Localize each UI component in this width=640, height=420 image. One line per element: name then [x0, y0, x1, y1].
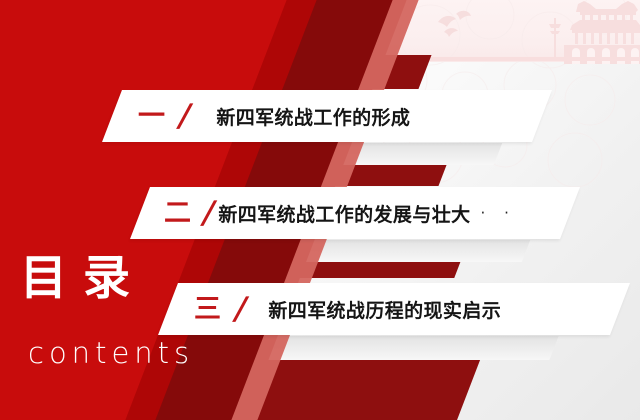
page-subtitle: contents	[28, 336, 228, 370]
agenda-numeral-2: 二	[164, 200, 191, 227]
agenda-numeral-1: 一	[138, 103, 165, 130]
agenda-item-2[interactable]: 二 / 新四军统战工作的发展与壮大 · ·	[130, 187, 580, 239]
agenda-item-1[interactable]: 一 / 新四军统战工作的形成	[102, 90, 552, 142]
agenda-label-2: 新四军统战工作的发展与壮大	[218, 200, 470, 227]
agenda-slide: 一 / 新四军统战工作的形成 二 / 新四军统战工作的发展与壮大 · · 三 /…	[0, 0, 640, 420]
slide-title-block: 目录 contents	[18, 255, 228, 370]
agenda-separator-1: /	[175, 101, 193, 132]
agenda-label-3: 新四军统战历程的现实启示	[268, 296, 501, 323]
agenda-separator-2: /	[199, 198, 217, 229]
agenda-item-3[interactable]: 三 / 新四军统战历程的现实启示	[158, 283, 630, 335]
tiananmen-gate-icon	[520, 0, 640, 64]
agenda-separator-3: /	[231, 294, 249, 325]
page-title: 目录	[18, 255, 228, 302]
agenda-label-1: 新四军统战工作的形成	[216, 103, 410, 130]
peace-doves-icon	[430, 8, 500, 42]
agenda-dots-2: · ·	[481, 204, 516, 222]
